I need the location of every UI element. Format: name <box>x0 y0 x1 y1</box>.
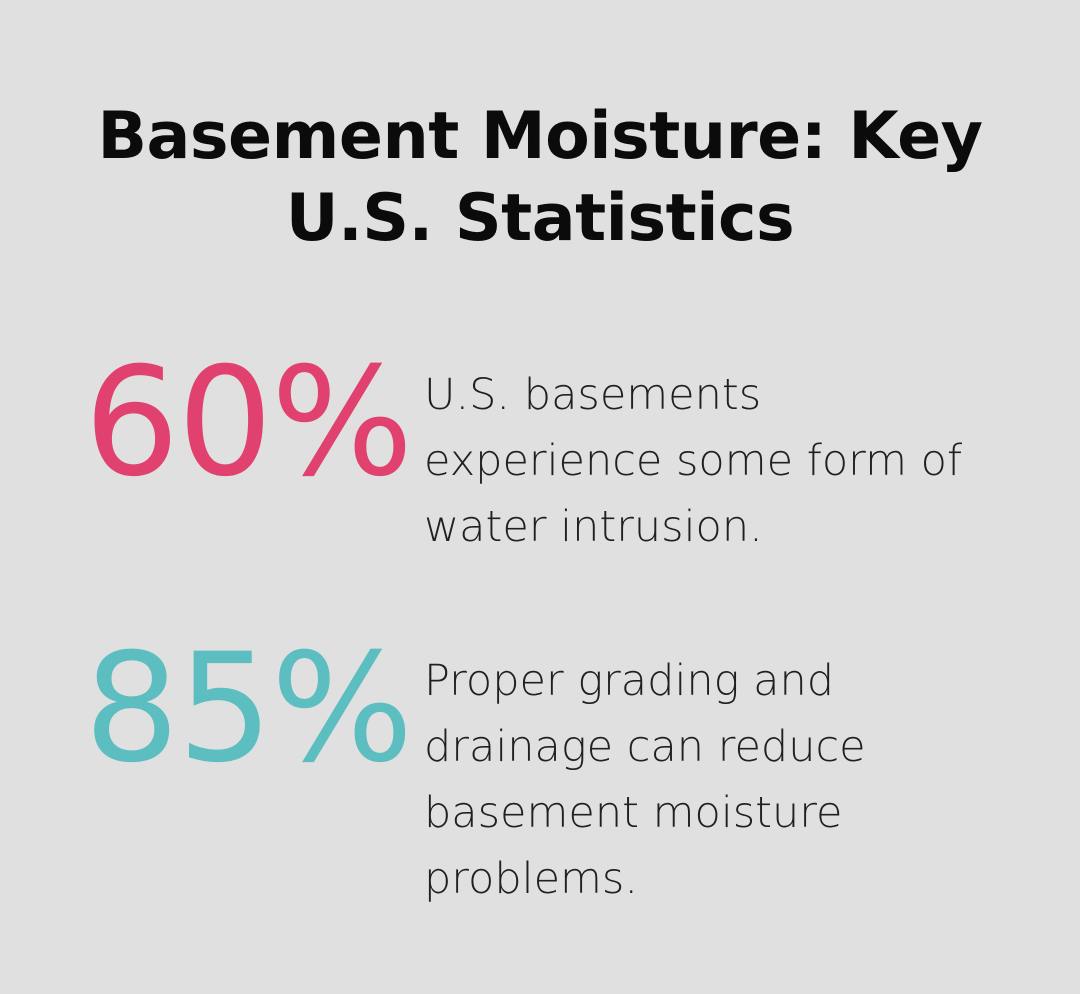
statistic-value-60-percent: 60% <box>84 348 424 498</box>
statistic-item-water-intrusion: 60% U.S. basements experience some form … <box>0 362 1080 560</box>
statistic-item-grading-drainage: 85% Proper grading and drainage can redu… <box>0 648 1080 912</box>
page-title: Basement Moisture: Key U.S. Statistics <box>90 96 990 260</box>
page-title-line-2: U.S. Statistics <box>90 178 990 260</box>
statistic-description-text: U.S. basements experience some form of w… <box>424 362 1010 560</box>
page-title-line-1: Basement Moisture: Key <box>90 96 990 178</box>
statistic-value-85-percent: 85% <box>84 634 424 784</box>
statistics-list: 60% U.S. basements experience some form … <box>0 362 1080 912</box>
infographic-card: Basement Moisture: Key U.S. Statistics 6… <box>0 0 1080 994</box>
statistic-description-water-intrusion: U.S. basements experience some form of w… <box>424 362 1080 560</box>
statistic-description-grading-drainage: Proper grading and drainage can reduce b… <box>424 648 1080 912</box>
statistic-description-text: Proper grading and drainage can reduce b… <box>424 648 1010 912</box>
